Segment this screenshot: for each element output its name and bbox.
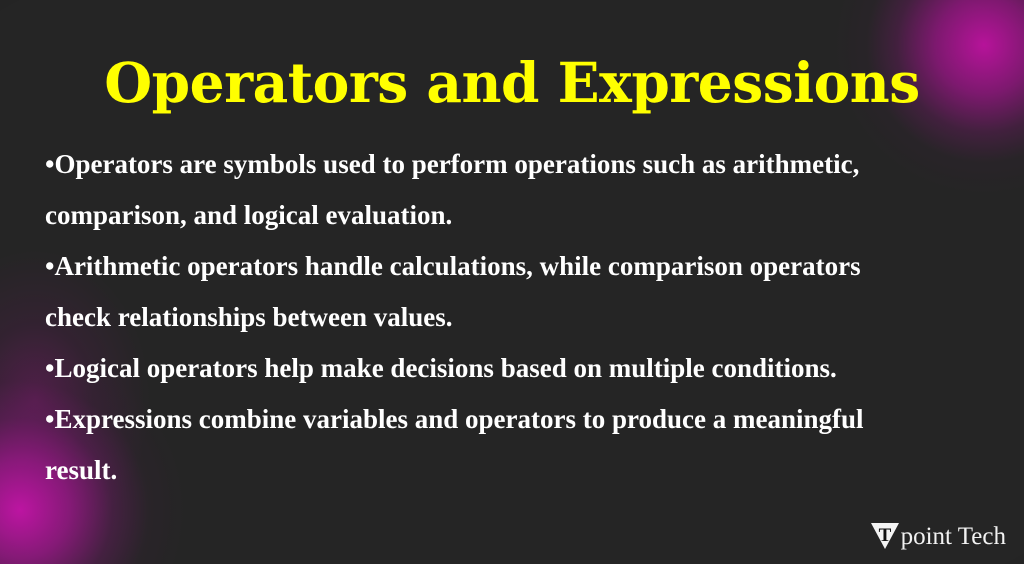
bullet-line: •Arithmetic operators handle calculation…: [45, 241, 975, 292]
svg-text:T: T: [878, 525, 891, 546]
bullet-text: Logical operators help make decisions ba…: [54, 353, 836, 383]
bullet-text: Operators are symbols used to perform op…: [54, 149, 859, 179]
bullet-line: check relationships between values.: [45, 292, 975, 343]
bullet-line: •Expressions combine variables and opera…: [45, 394, 975, 445]
bullet-text: comparison, and logical evaluation.: [45, 200, 452, 230]
down-triangle-icon: T: [870, 522, 900, 550]
slide-canvas: Operators and Expressions •Operators are…: [0, 0, 1024, 564]
bullet-line: comparison, and logical evaluation.: [45, 190, 975, 241]
bullet-line: result.: [45, 445, 975, 496]
logo-wordmark: point Tech: [901, 524, 1006, 549]
bullet-line: •Operators are symbols used to perform o…: [45, 139, 975, 190]
bullet-list: •Operators are symbols used to perform o…: [45, 139, 975, 496]
bullet-line: •Logical operators help make decisions b…: [45, 343, 975, 394]
bullet-text: Arithmetic operators handle calculations…: [54, 251, 860, 281]
bullet-text: check relationships between values.: [45, 302, 453, 332]
tpoint-tech-logo: T point Tech: [870, 522, 1006, 550]
bullet-text: Expressions combine variables and operat…: [54, 404, 863, 434]
slide-title: Operators and Expressions: [0, 50, 1024, 116]
bullet-text: result.: [45, 455, 117, 485]
